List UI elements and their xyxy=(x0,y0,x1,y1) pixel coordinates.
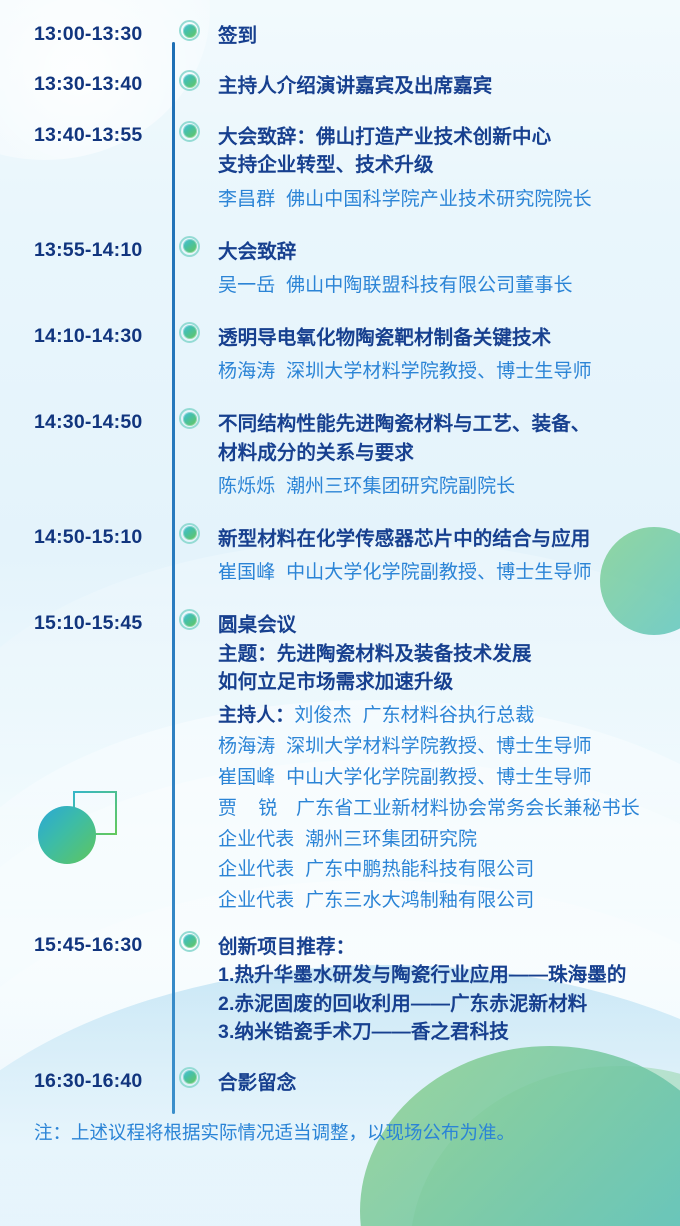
footer-note: 注：上述议程将根据实际情况适当调整，以现场公布为准。 xyxy=(34,1119,680,1145)
speaker-name: 崔国峰 xyxy=(218,558,275,589)
agenda-content: 圆桌会议主题：先进陶瓷材料及装备技术发展如何立足市场需求加速升级主持人：刘俊杰 … xyxy=(218,611,680,917)
timeline-dot-icon xyxy=(179,322,200,343)
agenda-title: 不同结构性能先进陶瓷材料与工艺、装备、 xyxy=(218,410,668,438)
agenda-title: 合影留念 xyxy=(218,1069,668,1097)
timeline-dot-icon xyxy=(179,20,200,41)
timeline-dot-icon xyxy=(179,121,200,142)
speaker-name: 崔国峰 xyxy=(218,763,275,794)
speaker-role-label: 主持人： xyxy=(218,705,294,726)
speaker-org: 广东三水大鸿制釉有限公司 xyxy=(305,890,534,911)
agenda-time: 15:10-15:45 xyxy=(34,611,172,634)
timeline-dot-icon xyxy=(179,236,200,257)
speaker-name: 企业代表 xyxy=(218,825,294,856)
agenda-time: 13:40-13:55 xyxy=(34,123,172,146)
agenda-time: 13:55-14:10 xyxy=(34,238,172,261)
agenda-content: 创新项目推荐：1.热升华墨水研发与陶瓷行业应用——珠海墨的2.赤泥固废的回收利用… xyxy=(218,933,680,1047)
agenda-title: 主持人介绍演讲嘉宾及出席嘉宾 xyxy=(218,72,668,100)
timeline-dot-icon xyxy=(179,931,200,952)
speaker-org: 潮州三环集团研究院 xyxy=(305,829,477,850)
speaker-separator xyxy=(275,361,286,382)
speaker-separator xyxy=(275,562,286,583)
agenda-title: 新型材料在化学传感器芯片中的结合与应用 xyxy=(218,525,668,553)
speaker-separator xyxy=(275,189,286,210)
agenda-row: 14:10-14:30透明导电氧化物陶瓷靶材制备关键技术杨海涛 深圳大学材料学院… xyxy=(0,324,680,388)
agenda-speaker: 企业代表 广东三水大鸿制釉有限公司 xyxy=(218,886,668,917)
speaker-org: 深圳大学材料学院教授、博士生导师 xyxy=(286,736,592,757)
timeline-dot-icon xyxy=(179,1067,200,1088)
speaker-org: 佛山中国科学院产业技术研究院院长 xyxy=(286,189,592,210)
timeline-marker xyxy=(172,22,218,42)
agenda-time: 14:10-14:30 xyxy=(34,324,172,347)
speaker-name: 陈烁烁 xyxy=(218,472,275,503)
timeline-marker xyxy=(172,72,218,92)
speaker-org: 佛山中陶联盟科技有限公司董事长 xyxy=(286,275,573,296)
speaker-separator xyxy=(275,736,286,757)
speaker-separator xyxy=(275,767,286,788)
timeline-marker xyxy=(172,410,218,430)
agenda-time: 14:50-15:10 xyxy=(34,525,172,548)
speaker-separator xyxy=(294,859,305,880)
speaker-org: 广东材料谷执行总裁 xyxy=(362,705,534,726)
timeline-marker xyxy=(172,123,218,143)
speaker-org: 中山大学化学院副教授、博士生导师 xyxy=(286,767,592,788)
agenda-content: 大会致辞吴一岳 佛山中陶联盟科技有限公司董事长 xyxy=(218,238,680,302)
timeline-marker xyxy=(172,611,218,631)
agenda-row: 13:30-13:40主持人介绍演讲嘉宾及出席嘉宾 xyxy=(0,72,680,100)
timeline-dot-icon xyxy=(179,408,200,429)
speaker-name: 企业代表 xyxy=(218,855,294,886)
agenda-time: 16:30-16:40 xyxy=(34,1069,172,1092)
speaker-name: 李昌群 xyxy=(218,185,275,216)
agenda-content: 签到 xyxy=(218,22,680,50)
agenda-row: 16:30-16:40合影留念 xyxy=(0,1069,680,1097)
agenda-speaker: 杨海涛 深圳大学材料学院教授、博士生导师 xyxy=(218,357,668,388)
speaker-separator xyxy=(285,798,296,819)
agenda-title: 支持企业转型、技术升级 xyxy=(218,151,668,179)
speaker-name: 吴一岳 xyxy=(218,271,275,302)
agenda-title: 2.赤泥固废的回收利用——广东赤泥新材料 xyxy=(218,990,668,1018)
speaker-name: 杨海涛 xyxy=(218,357,275,388)
agenda-title: 3.纳米锆瓷手术刀——香之君科技 xyxy=(218,1018,668,1046)
agenda-content: 合影留念 xyxy=(218,1069,680,1097)
speaker-name: 贾 锐 xyxy=(218,794,285,825)
agenda-speaker: 杨海涛 深圳大学材料学院教授、博士生导师 xyxy=(218,732,668,763)
agenda-title: 主题：先进陶瓷材料及装备技术发展 xyxy=(218,640,668,668)
agenda-speaker: 李昌群 佛山中国科学院产业技术研究院院长 xyxy=(218,185,668,216)
speaker-name: 杨海涛 xyxy=(218,732,275,763)
agenda-row: 13:00-13:30签到 xyxy=(0,22,680,50)
timeline-marker xyxy=(172,238,218,258)
speaker-name: 刘俊杰 xyxy=(294,701,351,732)
agenda-speaker: 崔国峰 中山大学化学院副教授、博士生导师 xyxy=(218,558,668,589)
timeline-marker xyxy=(172,525,218,545)
agenda-row: 14:50-15:10新型材料在化学传感器芯片中的结合与应用崔国峰 中山大学化学… xyxy=(0,525,680,589)
agenda-speaker: 陈烁烁 潮州三环集团研究院副院长 xyxy=(218,472,668,503)
speaker-separator xyxy=(275,275,286,296)
agenda-speaker: 主持人：刘俊杰 广东材料谷执行总裁 xyxy=(218,701,668,732)
speaker-org: 广东省工业新材料协会常务会长兼秘书长 xyxy=(296,798,640,819)
speaker-org: 中山大学化学院副教授、博士生导师 xyxy=(286,562,592,583)
speaker-name: 企业代表 xyxy=(218,886,294,917)
speaker-org: 广东中鹏热能科技有限公司 xyxy=(305,859,534,880)
agenda-title: 签到 xyxy=(218,22,668,50)
speaker-separator xyxy=(352,705,363,726)
timeline-marker xyxy=(172,324,218,344)
timeline-marker xyxy=(172,933,218,953)
agenda-content: 不同结构性能先进陶瓷材料与工艺、装备、材料成分的关系与要求陈烁烁 潮州三环集团研… xyxy=(218,410,680,503)
timeline-dot-icon xyxy=(179,523,200,544)
agenda-title: 圆桌会议 xyxy=(218,611,668,639)
agenda-speaker: 吴一岳 佛山中陶联盟科技有限公司董事长 xyxy=(218,271,668,302)
agenda-title: 如何立足市场需求加速升级 xyxy=(218,668,668,696)
timeline-dot-icon xyxy=(179,609,200,630)
agenda-time: 15:45-16:30 xyxy=(34,933,172,956)
speaker-separator xyxy=(275,476,286,497)
agenda-speaker: 企业代表 潮州三环集团研究院 xyxy=(218,825,668,856)
agenda-title: 材料成分的关系与要求 xyxy=(218,439,668,467)
timeline-dot-icon xyxy=(179,70,200,91)
agenda-row: 13:55-14:10大会致辞吴一岳 佛山中陶联盟科技有限公司董事长 xyxy=(0,238,680,302)
agenda-row: 14:30-14:50不同结构性能先进陶瓷材料与工艺、装备、材料成分的关系与要求… xyxy=(0,410,680,503)
speaker-separator xyxy=(294,829,305,850)
agenda-content: 大会致辞：佛山打造产业技术创新中心支持企业转型、技术升级李昌群 佛山中国科学院产… xyxy=(218,123,680,216)
agenda-page: 13:00-13:30签到13:30-13:40主持人介绍演讲嘉宾及出席嘉宾13… xyxy=(0,0,680,1226)
speaker-org: 潮州三环集团研究院副院长 xyxy=(286,476,515,497)
agenda-title: 创新项目推荐： xyxy=(218,933,668,961)
agenda-row: 15:45-16:30创新项目推荐：1.热升华墨水研发与陶瓷行业应用——珠海墨的… xyxy=(0,933,680,1047)
agenda-time: 13:30-13:40 xyxy=(34,72,172,95)
agenda-time: 14:30-14:50 xyxy=(34,410,172,433)
speaker-org: 深圳大学材料学院教授、博士生导师 xyxy=(286,361,592,382)
agenda-title: 大会致辞：佛山打造产业技术创新中心 xyxy=(218,123,668,151)
agenda-time: 13:00-13:30 xyxy=(34,22,172,45)
agenda-title: 大会致辞 xyxy=(218,238,668,266)
speaker-separator xyxy=(294,890,305,911)
agenda-title: 1.热升华墨水研发与陶瓷行业应用——珠海墨的 xyxy=(218,961,668,989)
agenda-row: 13:40-13:55大会致辞：佛山打造产业技术创新中心支持企业转型、技术升级李… xyxy=(0,123,680,216)
agenda-list: 13:00-13:30签到13:30-13:40主持人介绍演讲嘉宾及出席嘉宾13… xyxy=(0,0,680,1097)
agenda-speaker: 企业代表 广东中鹏热能科技有限公司 xyxy=(218,855,668,886)
agenda-content: 透明导电氧化物陶瓷靶材制备关键技术杨海涛 深圳大学材料学院教授、博士生导师 xyxy=(218,324,680,388)
timeline-marker xyxy=(172,1069,218,1089)
agenda-content: 新型材料在化学传感器芯片中的结合与应用崔国峰 中山大学化学院副教授、博士生导师 xyxy=(218,525,680,589)
agenda-row: 15:10-15:45圆桌会议主题：先进陶瓷材料及装备技术发展如何立足市场需求加… xyxy=(0,611,680,917)
agenda-speaker: 贾 锐 广东省工业新材料协会常务会长兼秘书长 xyxy=(218,794,668,825)
agenda-title: 透明导电氧化物陶瓷靶材制备关键技术 xyxy=(218,324,668,352)
agenda-content: 主持人介绍演讲嘉宾及出席嘉宾 xyxy=(218,72,680,100)
agenda-speaker: 崔国峰 中山大学化学院副教授、博士生导师 xyxy=(218,763,668,794)
